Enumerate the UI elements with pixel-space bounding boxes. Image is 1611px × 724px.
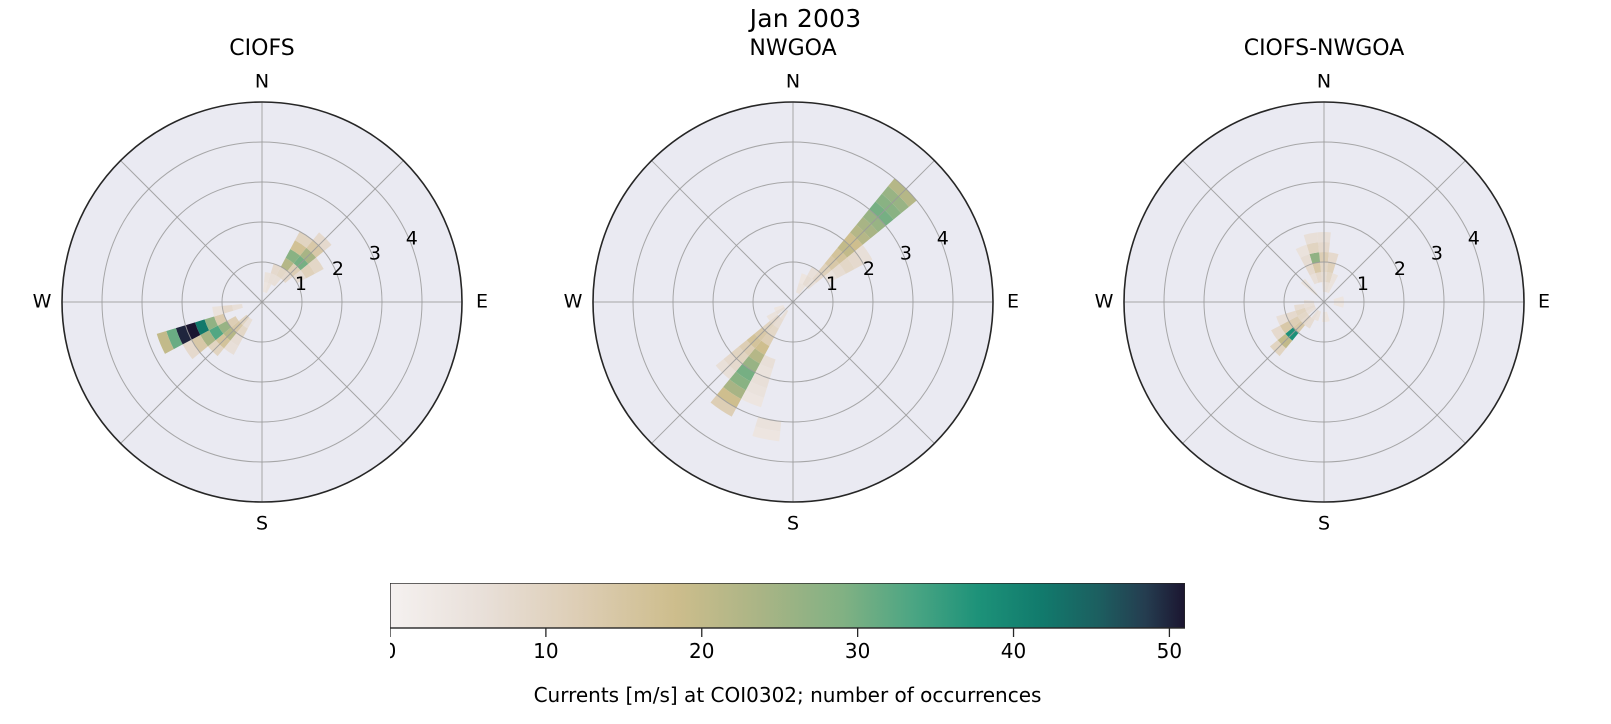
polar-plot-nwgoa[interactable]: 1234NESW [533, 64, 1053, 584]
compass-label-w: W [33, 291, 52, 313]
compass-label-n: N [786, 71, 800, 93]
polar-plot-ciofs[interactable]: 1234NESW [2, 64, 522, 584]
panel-ciofs: CIOFS 1234NESW [2, 36, 522, 586]
compass-label-s: S [1318, 513, 1330, 535]
polar-r-tick-label: 1 [826, 273, 838, 295]
compass-label-e: E [1007, 291, 1019, 313]
figure-root: Jan 2003 CIOFS 1234NESW NWGOA 1234NESW C… [0, 0, 1611, 724]
polar-plot-ciofs-nwgoa[interactable]: 1234NESW [1064, 64, 1584, 584]
panel-title-ciofs-nwgoa: CIOFS-NWGOA [1064, 36, 1584, 61]
compass-label-s: S [256, 513, 268, 535]
colorbar-tick-label: 20 [689, 639, 714, 663]
compass-label-w: W [1095, 291, 1114, 313]
colorbar-tick-label: 40 [1001, 639, 1026, 663]
panel-title-ciofs: CIOFS [2, 36, 522, 61]
compass-label-e: E [476, 291, 488, 313]
panel-ciofs-nwgoa: CIOFS-NWGOA 1234NESW [1064, 36, 1584, 586]
compass-label-s: S [787, 513, 799, 535]
polar-r-tick-label: 4 [1468, 227, 1480, 249]
colorbar-tick-label: 30 [845, 639, 870, 663]
compass-label-w: W [564, 291, 583, 313]
polar-axes: 1234NESW [533, 64, 1053, 584]
polar-r-tick-label: 3 [1431, 243, 1443, 265]
polar-r-tick-label: 2 [863, 258, 875, 280]
polar-r-tick-label: 2 [332, 258, 344, 280]
compass-label-n: N [1317, 71, 1331, 93]
colorbar-svg[interactable]: 01020304050 [390, 583, 1185, 678]
colorbar-caption: Currents [m/s] at COI0302; number of occ… [390, 683, 1185, 707]
colorbar-gradient[interactable] [390, 583, 1185, 628]
polar-r-tick-label: 3 [900, 243, 912, 265]
polar-axes: 1234NESW [2, 64, 522, 584]
colorbar-tick-label: 10 [533, 639, 558, 663]
polar-r-tick-label: 2 [1394, 258, 1406, 280]
polar-r-tick-label: 1 [295, 273, 307, 295]
polar-r-tick-label: 1 [1357, 273, 1369, 295]
panel-title-nwgoa: NWGOA [533, 36, 1053, 61]
figure-suptitle: Jan 2003 [0, 4, 1611, 33]
polar-axes: 1234NESW [1064, 64, 1584, 584]
colorbar-tick-label: 0 [390, 639, 396, 663]
polar-r-tick-label: 4 [937, 227, 949, 249]
colorbar[interactable]: 01020304050 Currents [m/s] at COI0302; n… [390, 583, 1185, 723]
panel-nwgoa: NWGOA 1234NESW [533, 36, 1053, 586]
polar-r-tick-label: 3 [369, 243, 381, 265]
compass-label-e: E [1538, 291, 1550, 313]
compass-label-n: N [255, 71, 269, 93]
colorbar-tick-label: 50 [1157, 639, 1182, 663]
polar-r-tick-label: 4 [406, 227, 418, 249]
